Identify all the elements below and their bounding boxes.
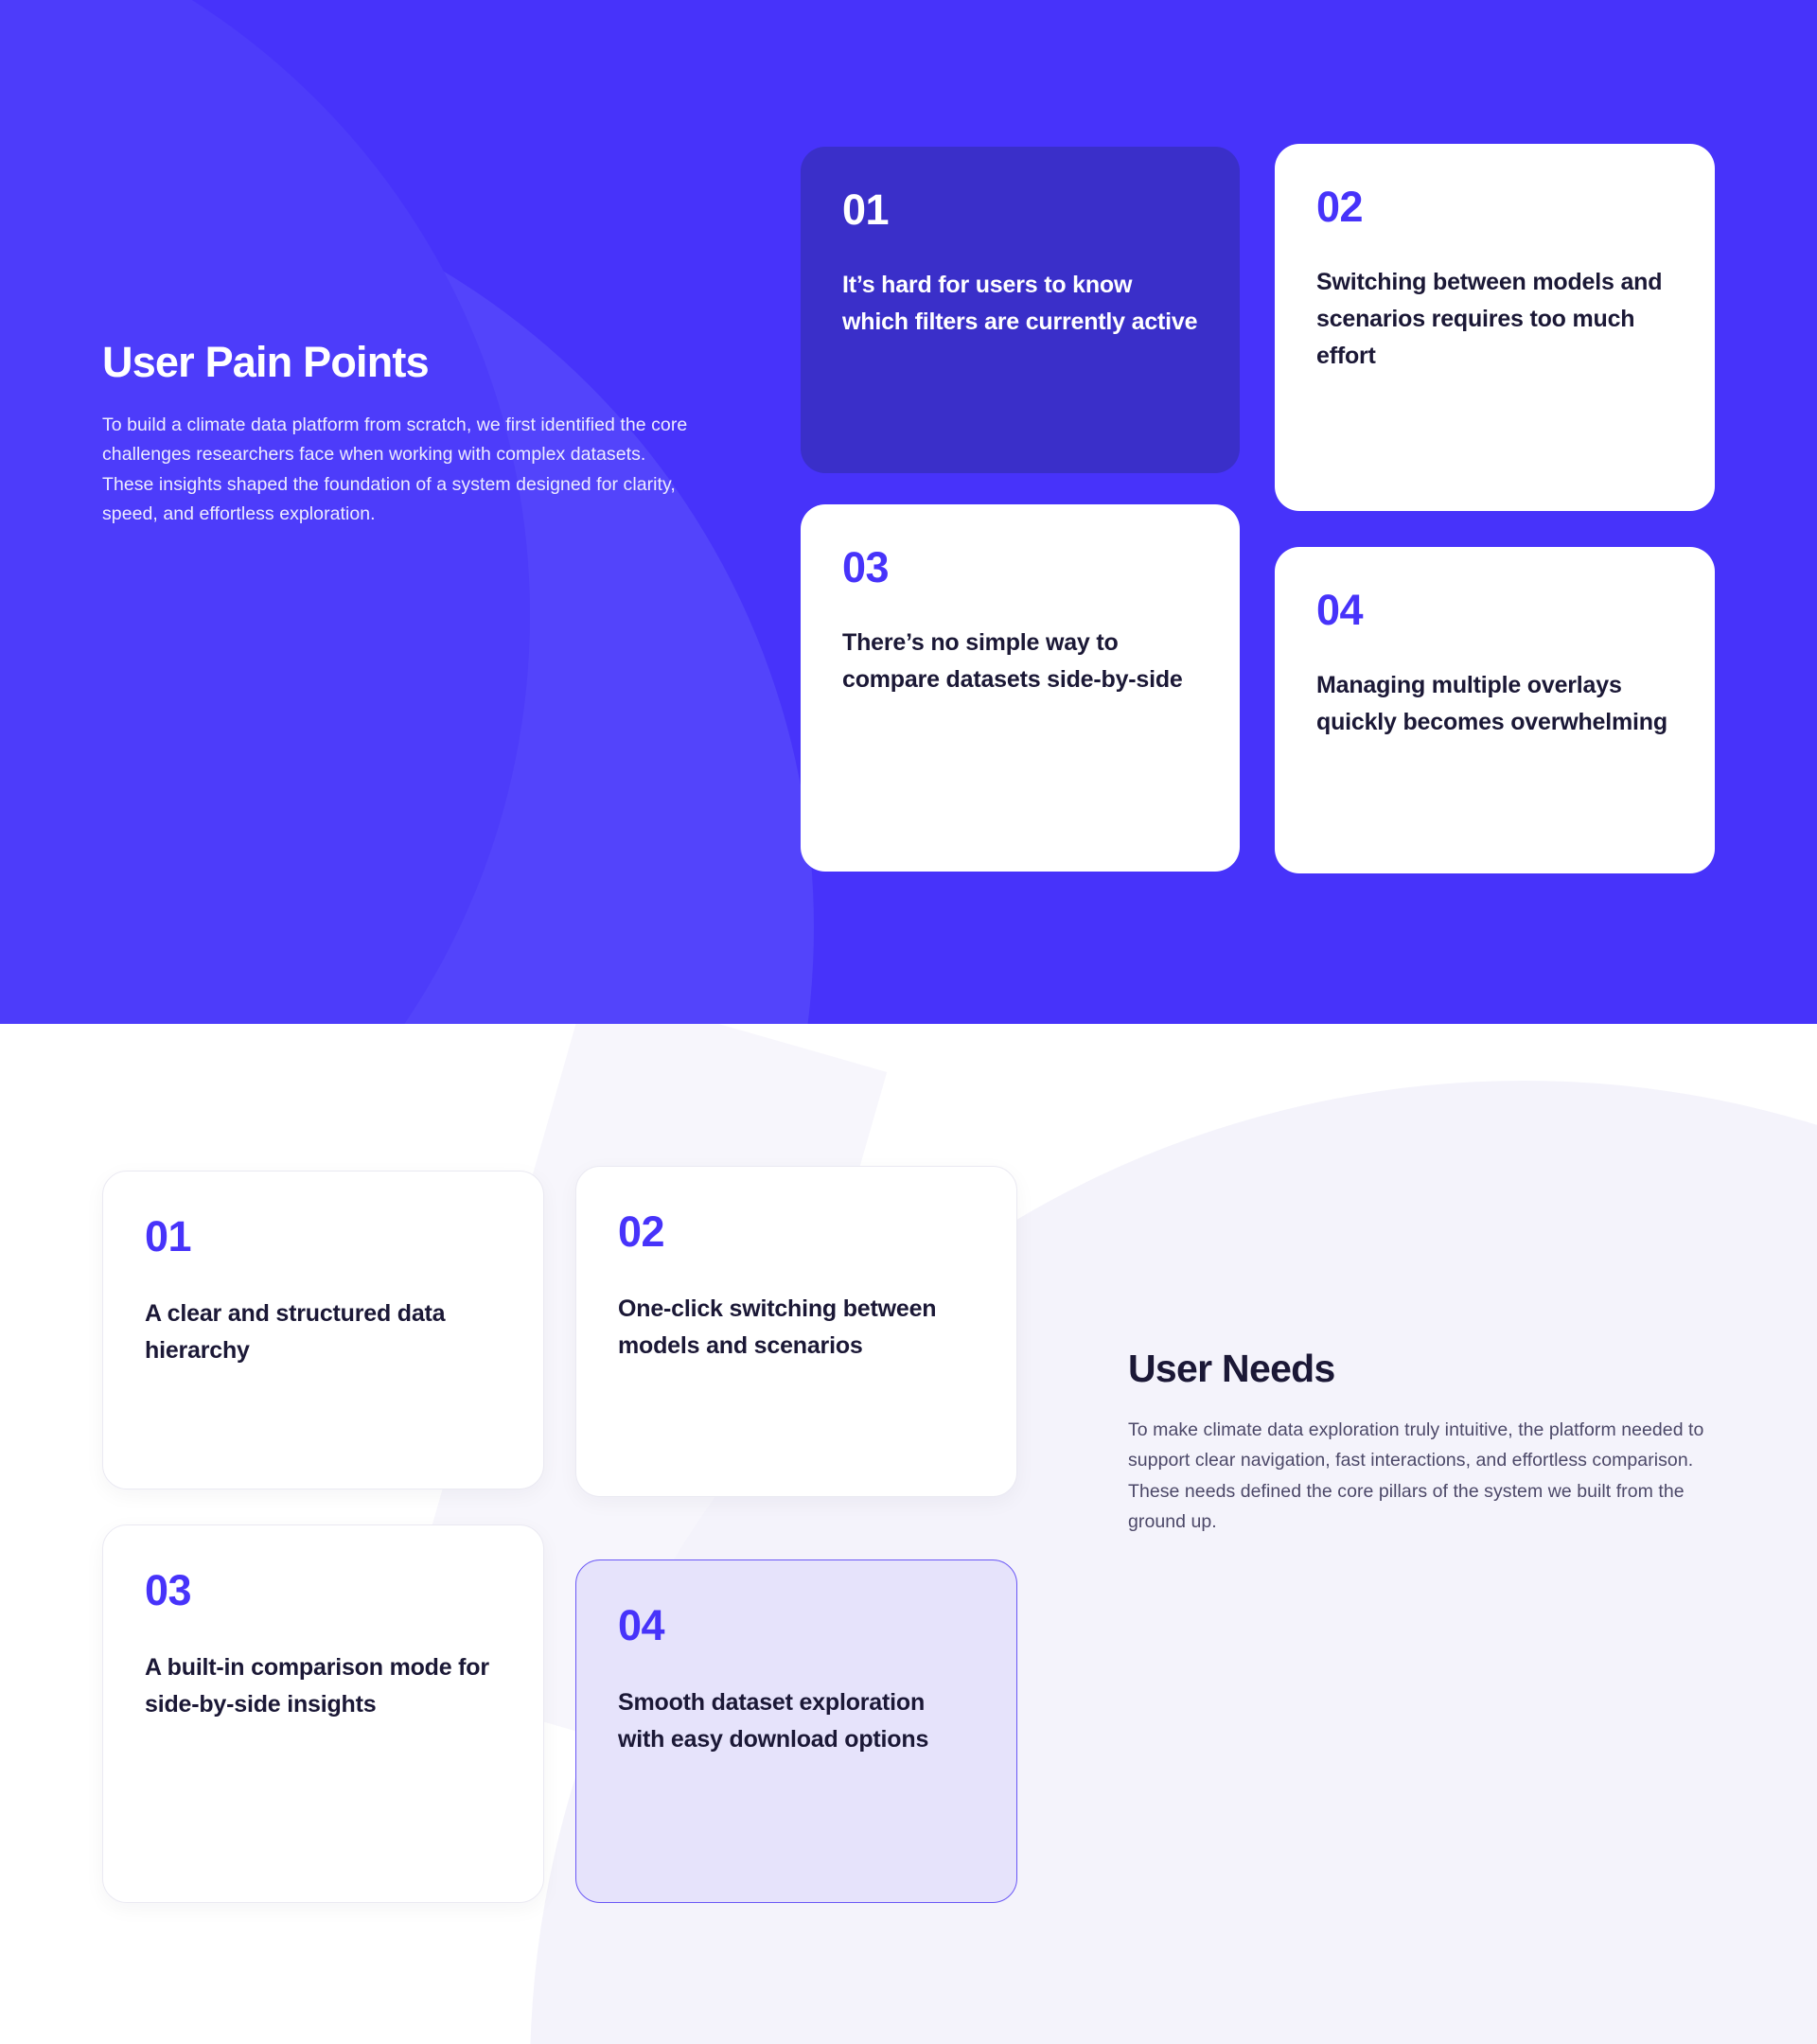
pain-point-card-01[interactable]: 01 It’s hard for users to know which fil… bbox=[801, 147, 1240, 473]
pain-points-intro: User Pain Points To build a climate data… bbox=[102, 339, 689, 530]
card-number: 04 bbox=[618, 1604, 975, 1647]
card-number: 01 bbox=[145, 1215, 502, 1258]
card-heading: A built-in comparison mode for side-by-s… bbox=[145, 1649, 502, 1723]
card-heading: A clear and structured data hierarchy bbox=[145, 1295, 502, 1369]
card-number: 02 bbox=[618, 1210, 975, 1253]
card-number: 02 bbox=[1316, 185, 1673, 228]
card-heading: One-click switching between models and s… bbox=[618, 1291, 975, 1365]
card-heading: Switching between models and scenarios r… bbox=[1316, 264, 1673, 374]
user-need-card-02[interactable]: 02 One-click switching between models an… bbox=[575, 1166, 1017, 1497]
user-needs-intro: User Needs To make climate data explorat… bbox=[1128, 1348, 1734, 1538]
user-needs-description: To make climate data exploration truly i… bbox=[1128, 1415, 1734, 1537]
card-number: 01 bbox=[842, 188, 1198, 231]
card-heading: Smooth dataset exploration with easy dow… bbox=[618, 1684, 975, 1758]
pain-points-description: To build a climate data platform from sc… bbox=[102, 411, 689, 530]
card-heading: Managing multiple overlays quickly becom… bbox=[1316, 667, 1673, 741]
card-heading: There’s no simple way to compare dataset… bbox=[842, 625, 1198, 698]
page-root: User Pain Points To build a climate data… bbox=[0, 0, 1817, 2044]
card-number: 04 bbox=[1316, 589, 1673, 631]
pain-point-card-02[interactable]: 02 Switching between models and scenario… bbox=[1275, 144, 1715, 511]
card-content: 01 A clear and structured data hierarchy bbox=[103, 1172, 543, 1407]
card-content: 03 A built-in comparison mode for side-b… bbox=[103, 1525, 543, 1761]
card-content: 01 It’s hard for users to know which fil… bbox=[801, 147, 1240, 379]
user-need-card-01[interactable]: 01 A clear and structured data hierarchy bbox=[102, 1171, 544, 1489]
card-content: 03 There’s no simple way to compare data… bbox=[801, 504, 1240, 736]
user-need-card-04[interactable]: 04 Smooth dataset exploration with easy … bbox=[575, 1559, 1017, 1903]
card-content: 04 Smooth dataset exploration with easy … bbox=[576, 1560, 1016, 1796]
user-needs-title: User Needs bbox=[1128, 1348, 1734, 1390]
card-number: 03 bbox=[842, 546, 1198, 589]
card-content: 02 One-click switching between models an… bbox=[576, 1167, 1016, 1402]
pain-points-title: User Pain Points bbox=[102, 339, 689, 386]
card-content: 02 Switching between models and scenario… bbox=[1275, 144, 1715, 412]
card-heading: It’s hard for users to know which filter… bbox=[842, 267, 1198, 341]
user-need-card-03[interactable]: 03 A built-in comparison mode for side-b… bbox=[102, 1524, 544, 1903]
pain-point-card-04[interactable]: 04 Managing multiple overlays quickly be… bbox=[1275, 547, 1715, 873]
card-number: 03 bbox=[145, 1569, 502, 1612]
card-content: 04 Managing multiple overlays quickly be… bbox=[1275, 547, 1715, 779]
pain-point-card-03[interactable]: 03 There’s no simple way to compare data… bbox=[801, 504, 1240, 872]
pain-points-section: User Pain Points To build a climate data… bbox=[0, 0, 1817, 1024]
